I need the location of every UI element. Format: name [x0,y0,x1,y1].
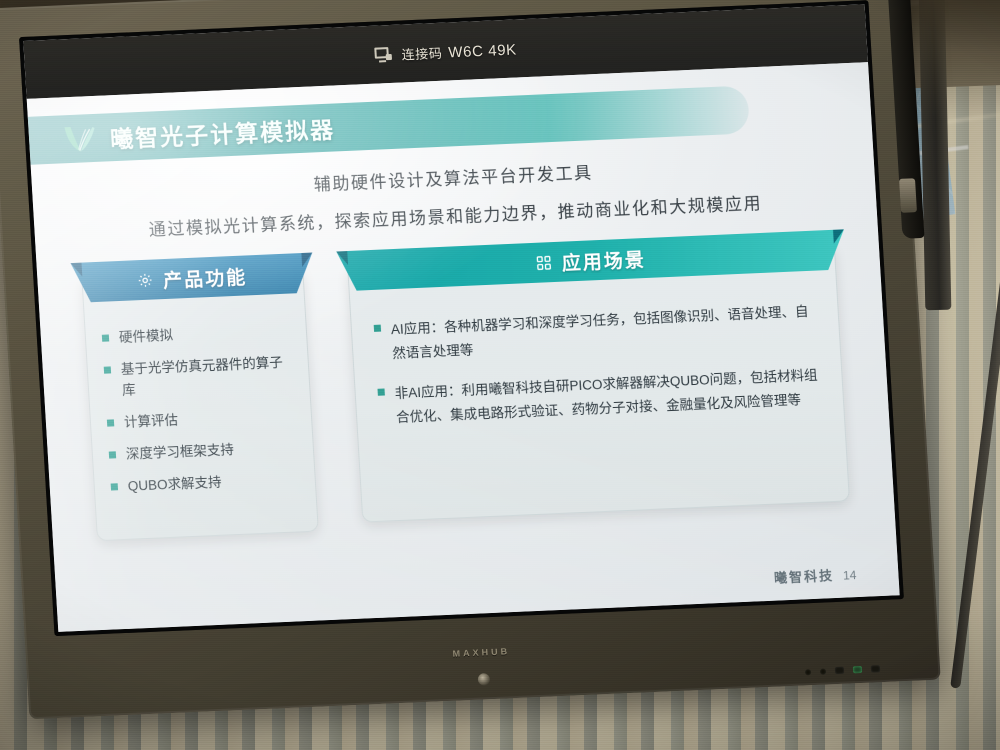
cast-code-value: W6C 49K [448,41,517,61]
slide-footer: 曦智科技 14 [773,564,856,587]
card-product-features: 产品功能 硬件模拟 基于光学仿真元器件的算子库 计算评估 深度学习框架支持 QU… [81,267,319,541]
port-round-1[interactable] [805,669,811,675]
list-item: AI应用：各种机器学习和深度学习任务，包括图像识别、语音处理、自然语言处理等 [373,300,817,366]
port-usb-a[interactable] [871,665,880,672]
cast-code-label: 连接码 [401,45,443,62]
list-item: 基于光学仿真元器件的算子库 [103,352,293,402]
feature-list: 硬件模拟 基于光学仿真元器件的算子库 计算评估 深度学习框架支持 QUBO求解支… [101,321,299,498]
screen-cast-icon [374,46,392,62]
slide-cards: 产品功能 硬件模拟 基于光学仿真元器件的算子库 计算评估 深度学习框架支持 QU… [81,244,853,586]
list-item: 深度学习框架支持 [108,437,297,466]
list-item: 计算评估 [106,405,295,434]
list-item: 硬件模拟 [101,321,290,350]
card-application-scenarios: 应用场景 AI应用：各种机器学习和深度学习任务，包括图像识别、语音处理、自然语言… [347,244,850,523]
list-item: QUBO求解支持 [110,469,299,498]
card-heading-scenarios: 应用场景 [561,245,647,276]
card-body-features: 硬件模拟 基于光学仿真元器件的算子库 计算评估 深度学习框架支持 QUBO求解支… [81,267,319,541]
slide-title-band: 曦智光子计算模拟器 [28,85,750,164]
footer-page-number: 14 [843,568,857,583]
company-leaf-logo [62,123,98,154]
display-brand-label: MAXHUB [452,646,510,658]
grid-squares-icon [536,255,552,271]
list-item: 非AI应用：利用曦智科技自研PICO求解器解决QUBO问题，包括材料组合优化、集… [377,364,821,430]
footer-brand: 曦智科技 [773,565,834,587]
card-heading-features: 产品功能 [162,262,248,293]
port-usb-c[interactable] [835,667,844,674]
port-round-2[interactable] [820,668,826,674]
port-lan[interactable] [853,666,862,673]
presentation-slide: 曦智光子计算模拟器 辅助硬件设计及算法平台开发工具 通过模拟光计算系统，探索应用… [27,62,900,632]
display-side-button[interactable] [899,178,917,213]
cast-code-text: 连接码W6C 49K [401,39,517,63]
photo-scene: MAXHUB 连接码W6C 49K [0,0,1000,750]
display-screen[interactable]: 连接码W6C 49K 曦智光子计算模拟器 [23,4,899,632]
gear-icon [138,272,154,288]
slide-subtitle-block: 辅助硬件设计及算法平台开发工具 通过模拟光计算系统，探索应用场景和能力边界，推动… [32,146,877,246]
slide-title: 曦智光子计算模拟器 [109,110,336,154]
interactive-flat-panel-display: MAXHUB 连接码W6C 49K [0,0,941,719]
scenario-list: AI应用：各种机器学习和深度学习任务，包括图像识别、语音处理、自然语言处理等 非… [373,300,821,431]
